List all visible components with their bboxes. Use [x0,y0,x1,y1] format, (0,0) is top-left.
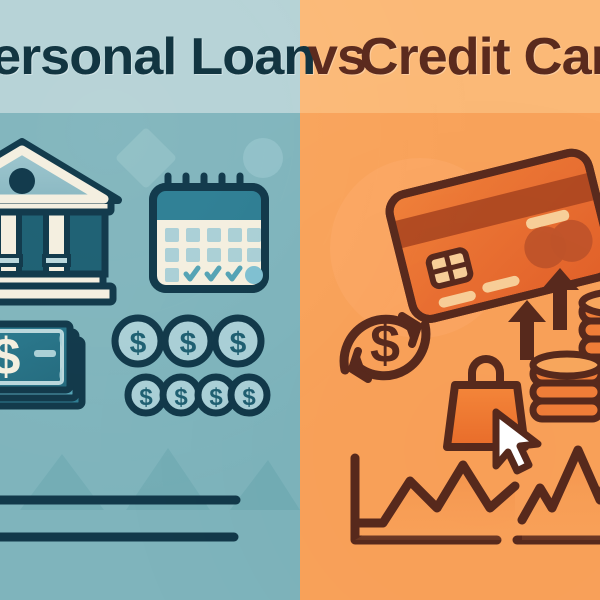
title-separator-text: vs [308,27,366,87]
header-band: Personal Loan vs Credit Card [0,0,600,113]
title-right-text: Credit Card [359,27,600,87]
illustration-canvas: $ $ $ $ $ $ $ $ [0,0,600,600]
recurring-dollar-icon: $ [344,314,426,379]
card-chip-icon [427,249,471,287]
page-title: Personal Loan vs Credit Card [0,0,600,113]
title-left-text: Personal Loan [0,27,316,87]
line-chart-icon-primary [355,458,515,540]
credit-card-icon [386,149,600,323]
svg-text:$: $ [370,314,400,374]
line-chart-icon-secondary [517,440,600,540]
